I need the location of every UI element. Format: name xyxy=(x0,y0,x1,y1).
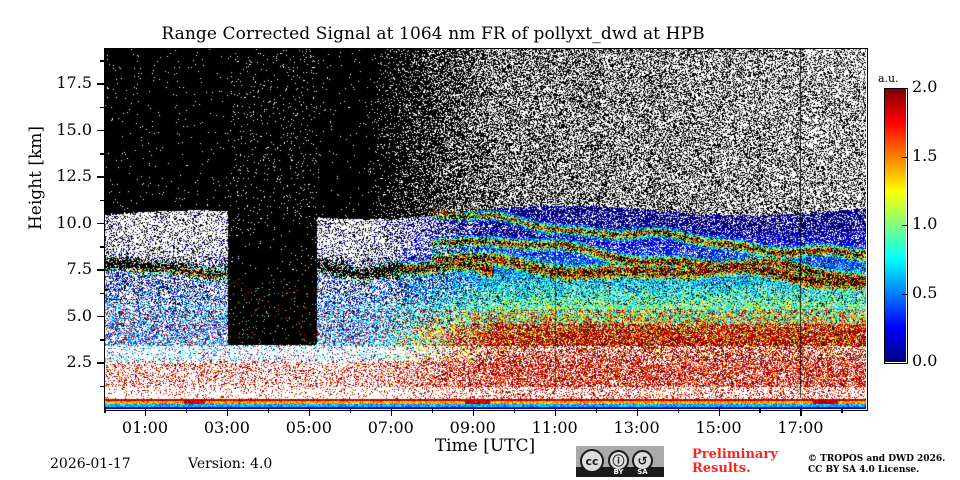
y-tick-label: 10.0 xyxy=(46,213,92,232)
y-tick-mark xyxy=(97,223,104,225)
cc-logo-icon: cc xyxy=(580,449,604,473)
y-tick-label: 5.0 xyxy=(46,306,92,325)
y-tick-mark-minor xyxy=(100,60,104,62)
x-tick-mark xyxy=(800,409,802,416)
x-tick-mark xyxy=(227,409,229,416)
x-tick-mark-minor xyxy=(350,409,352,413)
y-axis-label: Height [km] xyxy=(26,98,46,258)
y-tick-mark xyxy=(97,83,104,85)
colorbar-tick-label: 0.0 xyxy=(912,351,937,370)
preliminary-results-notice: Preliminary Results. xyxy=(692,448,812,476)
copyright-notice: © TROPOS and DWD 2026. CC BY SA 4.0 Lice… xyxy=(808,454,958,476)
x-tick-mark-minor xyxy=(268,409,270,413)
x-tick-mark xyxy=(555,409,557,416)
x-tick-label: 13:00 xyxy=(602,418,672,437)
lidar-quicklook-figure: Range Corrected Signal at 1064 nm FR of … xyxy=(0,0,960,480)
y-tick-mark-minor xyxy=(100,339,104,341)
copyright-line-2: CC BY SA 4.0 License. xyxy=(808,465,958,476)
colorbar-unit-label: a.u. xyxy=(878,72,899,85)
y-tick-mark xyxy=(97,176,104,178)
x-tick-mark-minor xyxy=(432,409,434,413)
y-tick-mark xyxy=(97,269,104,271)
x-tick-mark xyxy=(145,409,147,416)
x-tick-label: 15:00 xyxy=(684,418,754,437)
x-tick-mark xyxy=(637,409,639,416)
x-tick-mark xyxy=(391,409,393,416)
colorbar-tick-label: 1.0 xyxy=(912,214,937,233)
y-tick-label: 17.5 xyxy=(46,73,92,92)
y-tick-mark-minor xyxy=(100,153,104,155)
x-tick-label: 05:00 xyxy=(274,418,344,437)
y-tick-mark xyxy=(97,362,104,364)
footer-version: Version: 4.0 xyxy=(188,456,272,472)
x-tick-mark-minor xyxy=(596,409,598,413)
copyright-line-1: © TROPOS and DWD 2026. xyxy=(808,454,958,465)
colorbar-tick-label: 2.0 xyxy=(912,77,937,96)
x-tick-label: 17:00 xyxy=(765,418,835,437)
colorbar-tick-label: 0.5 xyxy=(912,283,937,302)
x-tick-mark-minor xyxy=(104,409,106,413)
colorbar-tick-mark xyxy=(902,225,907,226)
creative-commons-badge-icon[interactable]: cc ⓘ ↺ BY SA xyxy=(576,446,664,477)
y-tick-mark xyxy=(97,130,104,132)
preliminary-line-1: Preliminary xyxy=(692,448,812,462)
colorbar-tick-label: 1.5 xyxy=(912,146,937,165)
colorbar-tick-mark xyxy=(902,157,907,158)
cc-by-caption: BY xyxy=(606,467,631,477)
x-tick-mark xyxy=(719,409,721,416)
y-tick-label: 2.5 xyxy=(46,352,92,371)
footer-date: 2026-01-17 xyxy=(50,456,131,472)
x-tick-mark-minor xyxy=(514,409,516,413)
y-tick-label: 15.0 xyxy=(46,120,92,139)
x-tick-mark xyxy=(309,409,311,416)
x-tick-mark-minor xyxy=(841,409,843,413)
y-tick-label: 7.5 xyxy=(46,259,92,278)
y-tick-mark-minor xyxy=(100,246,104,248)
x-tick-mark xyxy=(473,409,475,416)
colorbar-tick-mark xyxy=(902,294,907,295)
x-tick-label: 09:00 xyxy=(438,418,508,437)
x-tick-label: 01:00 xyxy=(110,418,180,437)
x-tick-mark-minor xyxy=(186,409,188,413)
x-tick-mark-minor xyxy=(759,409,761,413)
y-tick-mark-minor xyxy=(100,386,104,388)
x-tick-mark-minor xyxy=(678,409,680,413)
x-tick-label: 11:00 xyxy=(520,418,590,437)
x-tick-label: 07:00 xyxy=(356,418,426,437)
y-tick-mark-minor xyxy=(100,293,104,295)
y-tick-mark-minor xyxy=(100,200,104,202)
quicklook-heatmap-canvas xyxy=(104,48,866,409)
y-tick-mark-minor xyxy=(100,107,104,109)
y-tick-mark xyxy=(97,316,104,318)
x-tick-label: 03:00 xyxy=(192,418,262,437)
page-title: Range Corrected Signal at 1064 nm FR of … xyxy=(0,24,866,44)
y-tick-label: 12.5 xyxy=(46,166,92,185)
preliminary-line-2: Results. xyxy=(692,462,812,476)
cc-sa-caption: SA xyxy=(630,467,655,477)
